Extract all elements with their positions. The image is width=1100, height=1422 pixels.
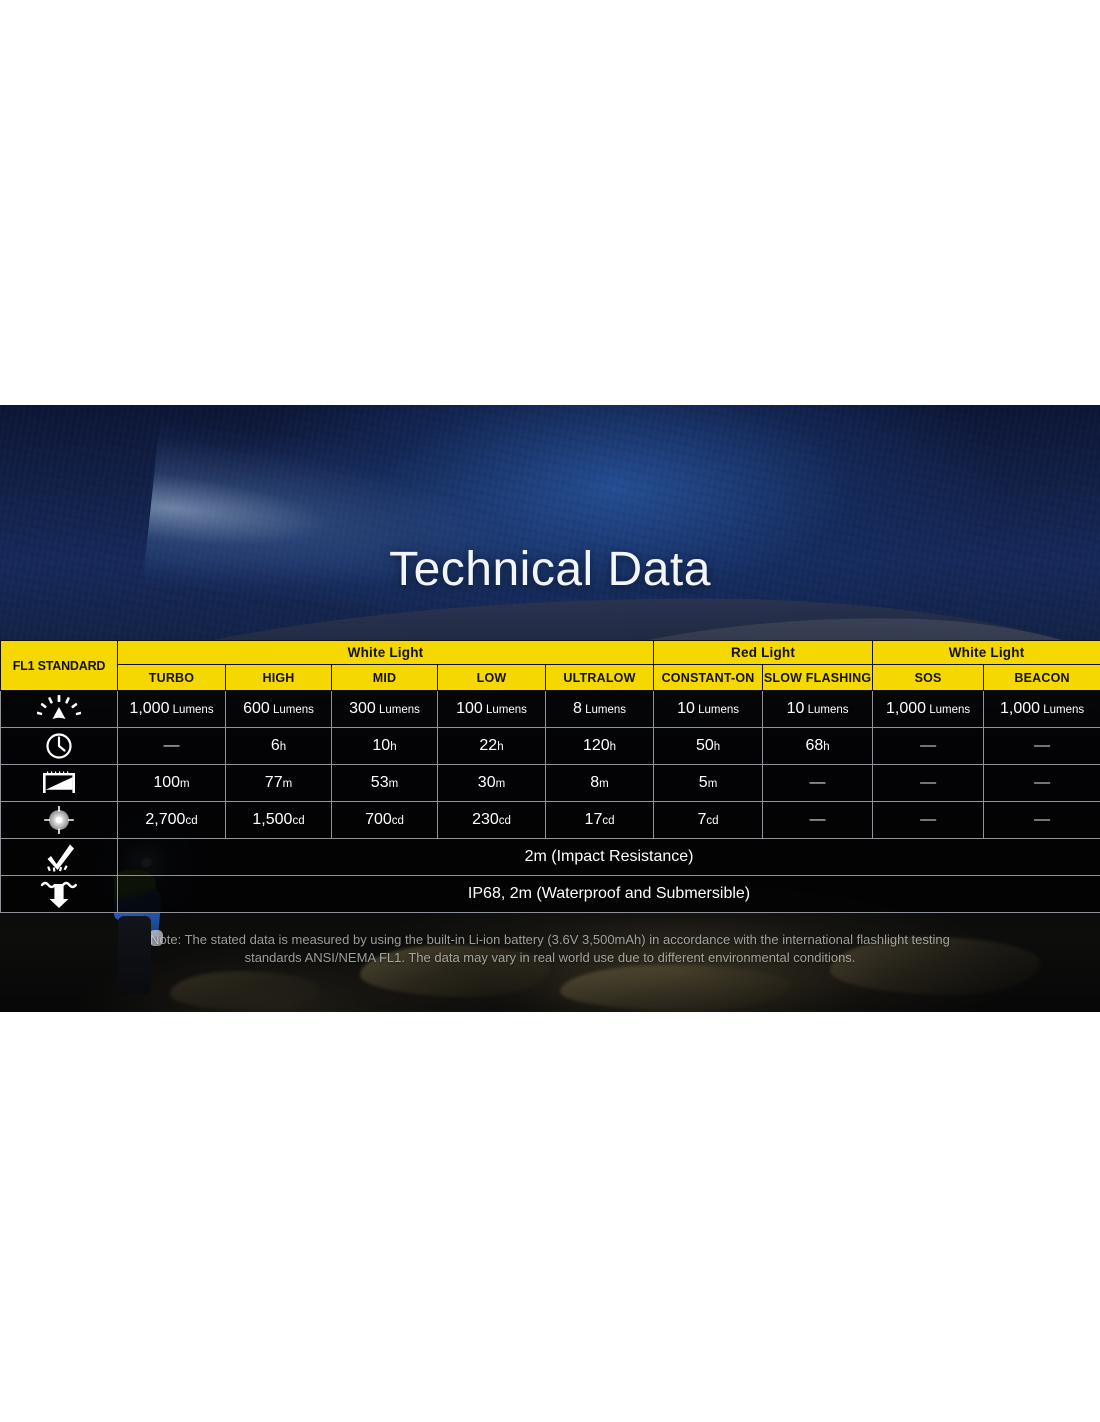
value-unit: cd [292, 815, 304, 827]
value-unit: Lumens [483, 704, 527, 716]
value-number: 22 [479, 737, 497, 754]
mode-header-sos: SOS [873, 665, 984, 691]
value-number: 10 [787, 700, 805, 717]
footnote-text: Note: The stated data is measured by usi… [150, 931, 950, 967]
value-number: 6 [271, 737, 280, 754]
value-unit: cd [602, 815, 614, 827]
value-number: — [920, 774, 936, 791]
value-number: 8 [573, 700, 582, 717]
value-unit: cd [392, 815, 404, 827]
value-unit: m [708, 778, 718, 790]
peak-beam-intensity-icon [1, 802, 118, 839]
mode-header-slow-flashing: SLOW FLASHING [763, 665, 873, 691]
value-unit: Lumens [169, 704, 213, 716]
distance-constant-on: 5m [654, 765, 763, 802]
distance-high: 77m [226, 765, 332, 802]
table-header-mode-row: TURBO HIGH MID LOW ULTRALOW CONSTANT-ON … [1, 665, 1100, 691]
value-unit: h [714, 741, 720, 753]
value-unit: h [497, 741, 503, 753]
clock-icon [1, 728, 118, 765]
distance-low: 30m [438, 765, 546, 802]
value-number: 1,000 [1000, 700, 1040, 717]
value-number: — [920, 737, 936, 754]
distance-turbo: 100m [118, 765, 226, 802]
value-unit: cd [706, 815, 718, 827]
distance-sos: — [873, 765, 984, 802]
value-unit: m [599, 778, 609, 790]
output-beacon: 1,000 Lumens [984, 691, 1100, 728]
value-unit: m [180, 778, 190, 790]
intensity-high: 1,500cd [226, 802, 332, 839]
runtime-constant-on: 50h [654, 728, 763, 765]
beam-distance-icon [1, 765, 118, 802]
intensity-sos: — [873, 802, 984, 839]
value-number: 1,000 [886, 700, 926, 717]
value-number: 100 [456, 700, 483, 717]
mode-header-beacon: BEACON [984, 665, 1100, 691]
runtime-high: 6h [226, 728, 332, 765]
value-number: 120 [583, 737, 610, 754]
value-number: 68 [805, 737, 823, 754]
output-ultralow: 8 Lumens [546, 691, 654, 728]
fl1-standard-label: FL1 STANDARD [1, 641, 118, 691]
value-number: — [164, 737, 180, 754]
table-row-waterproof: IP68, 2m (Waterproof and Submersible) [1, 876, 1100, 913]
value-unit: Lumens [582, 704, 626, 716]
value-number: 1,000 [129, 700, 169, 717]
table-row-impact-resistance: 2m (Impact Resistance) [1, 839, 1100, 876]
intensity-constant-on: 7cd [654, 802, 763, 839]
waterproof-value: IP68, 2m (Waterproof and Submersible) [118, 876, 1100, 913]
value-unit: Lumens [1040, 704, 1084, 716]
waterproof-icon [1, 876, 118, 913]
output-slow-flashing: 10 Lumens [763, 691, 873, 728]
output-low: 100 Lumens [438, 691, 546, 728]
mode-header-ultralow: ULTRALOW [546, 665, 654, 691]
value-number: — [810, 774, 826, 791]
value-number: — [1034, 737, 1050, 754]
output-mid: 300 Lumens [332, 691, 438, 728]
value-number: 30 [478, 774, 496, 791]
value-number: — [1034, 774, 1050, 791]
intensity-slow-flashing: — [763, 802, 873, 839]
value-number: 53 [371, 774, 389, 791]
value-unit: m [389, 778, 399, 790]
value-number: 1,500 [252, 811, 292, 828]
rock-shape [560, 965, 790, 1011]
intensity-beacon: — [984, 802, 1100, 839]
runtime-mid: 10h [332, 728, 438, 765]
value-number: — [810, 811, 826, 828]
value-number: 230 [472, 811, 499, 828]
mode-header-low: LOW [438, 665, 546, 691]
value-number: 10 [677, 700, 695, 717]
distance-beacon: — [984, 765, 1100, 802]
table-row-distance: 100m 77m 53m 30m 8m 5m — — — [1, 765, 1100, 802]
value-number: 8 [590, 774, 599, 791]
value-number: 600 [243, 700, 270, 717]
page-root: Technical Data FL1 STANDARD White Light … [0, 0, 1100, 1422]
mode-header-mid: MID [332, 665, 438, 691]
value-unit: h [610, 741, 616, 753]
technical-data-banner: Technical Data FL1 STANDARD White Light … [0, 405, 1100, 1012]
runtime-ultralow: 120h [546, 728, 654, 765]
impact-resistance-value: 2m (Impact Resistance) [118, 839, 1100, 876]
group-header-red-light: Red Light [654, 641, 873, 665]
value-number: — [920, 811, 936, 828]
output-constant-on: 10 Lumens [654, 691, 763, 728]
intensity-mid: 700cd [332, 802, 438, 839]
page-title: Technical Data [0, 542, 1100, 597]
table-row-runtime: — 6h 10h 22h 120h 50h 68h — — [1, 728, 1100, 765]
output-high: 600 Lumens [226, 691, 332, 728]
value-number: 5 [699, 774, 708, 791]
value-unit: cd [185, 815, 197, 827]
distance-mid: 53m [332, 765, 438, 802]
value-unit: cd [499, 815, 511, 827]
runtime-beacon: — [984, 728, 1100, 765]
output-turbo: 1,000 Lumens [118, 691, 226, 728]
table-header-group-row: FL1 STANDARD White Light Red Light White… [1, 641, 1100, 665]
value-unit: m [283, 778, 293, 790]
runtime-turbo: — [118, 728, 226, 765]
runtime-low: 22h [438, 728, 546, 765]
value-number: 50 [696, 737, 714, 754]
rock-shape [170, 971, 320, 1011]
runtime-sos: — [873, 728, 984, 765]
value-unit: m [496, 778, 506, 790]
group-header-white-light-2: White Light [873, 641, 1100, 665]
value-number: 2,700 [145, 811, 185, 828]
output-sos: 1,000 Lumens [873, 691, 984, 728]
value-number: — [1034, 811, 1050, 828]
table-row-output: 1,000 Lumens 600 Lumens 300 Lumens 100 L… [1, 691, 1100, 728]
hiker-legs [118, 916, 151, 994]
value-unit: h [280, 741, 286, 753]
value-number: 700 [365, 811, 392, 828]
mode-header-turbo: TURBO [118, 665, 226, 691]
intensity-low: 230cd [438, 802, 546, 839]
value-number: 10 [372, 737, 390, 754]
intensity-turbo: 2,700cd [118, 802, 226, 839]
group-header-white-light-1: White Light [118, 641, 654, 665]
value-unit: Lumens [270, 704, 314, 716]
value-unit: Lumens [926, 704, 970, 716]
table-row-intensity: 2,700cd 1,500cd 700cd 230cd 17cd 7cd — —… [1, 802, 1100, 839]
sunburst-icon [1, 691, 118, 728]
mode-header-high: HIGH [226, 665, 332, 691]
runtime-slow-flashing: 68h [763, 728, 873, 765]
value-unit: h [823, 741, 829, 753]
value-number: 77 [265, 774, 283, 791]
intensity-ultralow: 17cd [546, 802, 654, 839]
impact-resistance-icon [1, 839, 118, 876]
value-number: 100 [153, 774, 180, 791]
mode-header-constant-on: CONSTANT-ON [654, 665, 763, 691]
distance-ultralow: 8m [546, 765, 654, 802]
value-number: 17 [585, 811, 603, 828]
distance-slow-flashing: — [763, 765, 873, 802]
value-unit: Lumens [695, 704, 739, 716]
value-unit: h [390, 741, 396, 753]
technical-data-table: FL1 STANDARD White Light Red Light White… [0, 640, 1100, 913]
value-number: 300 [349, 700, 376, 717]
value-unit: Lumens [376, 704, 420, 716]
value-unit: Lumens [804, 704, 848, 716]
